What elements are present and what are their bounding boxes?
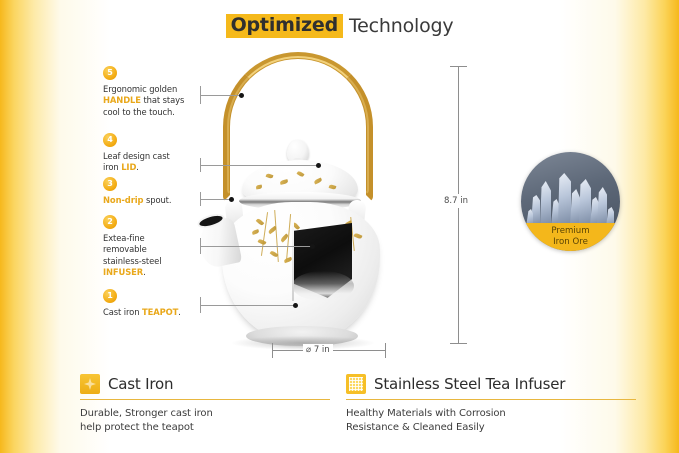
- title-plain: Technology: [349, 17, 453, 36]
- callout-keyword: TEAPOT: [142, 307, 178, 317]
- dimension-cap-top: [450, 66, 467, 67]
- callout-line: iron LID.: [103, 162, 199, 173]
- cast-iron-icon: [80, 374, 100, 394]
- leader-dot-spout: [229, 197, 234, 202]
- callout-line-rest: that stays: [141, 95, 184, 105]
- leader-dot-infuser: [310, 244, 315, 249]
- feature-description: Healthy Materials with Corrosion Resista…: [346, 407, 636, 434]
- callout-line: Leaf design cast: [103, 151, 199, 162]
- ore-badge-label: Premium Iron Ore: [521, 223, 620, 251]
- ore-crystal: [540, 181, 551, 225]
- callout-keyword: Non-drip: [103, 195, 143, 205]
- leader-line-teapot: [200, 305, 296, 306]
- callout-line: Extea-fine: [103, 233, 199, 244]
- callout-line: stainless-steel: [103, 256, 199, 267]
- callout-line: Cast iron TEAPOT.: [103, 307, 199, 318]
- callout-line-pre: Cast iron: [103, 307, 142, 317]
- ore-crystal: [597, 187, 607, 225]
- callout-handle: 5 Ergonomic golden HANDLE that stays coo…: [103, 66, 199, 118]
- callout-line-post: .: [178, 307, 181, 317]
- callout-keyword: HANDLE: [103, 95, 141, 105]
- cutaway-edge: [292, 219, 294, 301]
- feature-divider: [80, 399, 330, 400]
- feature-title: Cast Iron: [108, 375, 173, 393]
- callout-lid: 4 Leaf design cast iron LID.: [103, 133, 199, 174]
- feature-desc-line: Resistance & Cleaned Easily: [346, 421, 636, 435]
- callout-teapot: 1 Cast iron TEAPOT.: [103, 289, 199, 318]
- callout-line: HANDLE that stays: [103, 95, 199, 106]
- callout-badge-2: 2: [103, 215, 117, 229]
- callout-badge-5: 5: [103, 66, 117, 80]
- feature-stainless-steel-infuser: Stainless Steel Tea Infuser Healthy Mate…: [346, 374, 636, 434]
- callout-line: Ergonomic golden: [103, 84, 199, 95]
- leader-dot-teapot: [293, 303, 298, 308]
- callout-text-lid: Leaf design cast iron LID.: [103, 151, 199, 174]
- dimension-cap-bottom: [450, 343, 467, 344]
- callout-keyword: LID: [121, 162, 136, 172]
- callout-line: Non-drip spout.: [103, 195, 199, 206]
- callout-infuser: 2 Extea-fine removable stainless-steel I…: [103, 215, 199, 279]
- page-title: OptimizedTechnology: [0, 14, 679, 38]
- feature-title: Stainless Steel Tea Infuser: [374, 375, 565, 393]
- callout-badge-4: 4: [103, 133, 117, 147]
- callout-line-post: .: [143, 267, 146, 277]
- mesh-grid-icon: [346, 374, 366, 394]
- callout-line-pre: iron: [103, 162, 121, 172]
- teapot-cutaway-section: [290, 215, 356, 315]
- leader-line-spout: [200, 199, 232, 200]
- ore-label-line2: Iron Ore: [521, 237, 620, 248]
- premium-iron-ore-badge: Premium Iron Ore: [521, 152, 620, 251]
- title-highlight: Optimized: [226, 14, 343, 38]
- feature-header: Stainless Steel Tea Infuser: [346, 374, 636, 394]
- cutaway-rim: [292, 271, 354, 301]
- leader-dot-handle: [239, 93, 244, 98]
- callout-line: INFUSER.: [103, 267, 199, 278]
- dimension-cap-left: [272, 343, 273, 358]
- leader-dot-lid: [316, 163, 321, 168]
- callout-text-infuser: Extea-fine removable stainless-steel INF…: [103, 233, 199, 279]
- feature-header: Cast Iron: [80, 374, 330, 394]
- product-image-teapot: [196, 52, 416, 352]
- ore-crystal: [558, 173, 571, 225]
- leader-line-lid: [200, 165, 319, 166]
- callout-text-teapot: Cast iron TEAPOT.: [103, 307, 199, 318]
- ore-label-line1: Premium: [521, 226, 620, 237]
- infographic-canvas: OptimizedTechnology: [0, 0, 679, 453]
- feature-desc-line: Durable, Stronger cast iron: [80, 407, 330, 421]
- leader-line-infuser: [200, 246, 313, 247]
- callout-line: cool to the touch.: [103, 107, 199, 118]
- feature-desc-line: Healthy Materials with Corrosion: [346, 407, 636, 421]
- dimension-cap-right: [385, 343, 386, 358]
- callout-badge-3: 3: [103, 177, 117, 191]
- callout-text-handle: Ergonomic golden HANDLE that stays cool …: [103, 84, 199, 118]
- ore-crystal: [579, 179, 591, 225]
- dimension-label-diameter: ⌀ 7 in: [303, 344, 333, 356]
- feature-desc-line: help protect the teapot: [80, 421, 330, 435]
- callout-line-post: .: [136, 162, 139, 172]
- callout-text-spout: Non-drip spout.: [103, 195, 199, 206]
- feature-divider: [346, 399, 636, 400]
- callout-line: removable: [103, 244, 199, 255]
- callout-badge-1: 1: [103, 289, 117, 303]
- callout-spout: 3 Non-drip spout.: [103, 177, 199, 206]
- callout-line-rest: spout.: [143, 195, 171, 205]
- ore-crystal: [551, 199, 559, 225]
- feature-cast-iron: Cast Iron Durable, Stronger cast iron he…: [80, 374, 330, 434]
- dimension-label-height: 8.7 in: [441, 194, 471, 208]
- leader-line-handle: [200, 95, 242, 96]
- callout-keyword: INFUSER: [103, 267, 143, 277]
- ore-crystal: [570, 189, 580, 225]
- feature-description: Durable, Stronger cast iron help protect…: [80, 407, 330, 434]
